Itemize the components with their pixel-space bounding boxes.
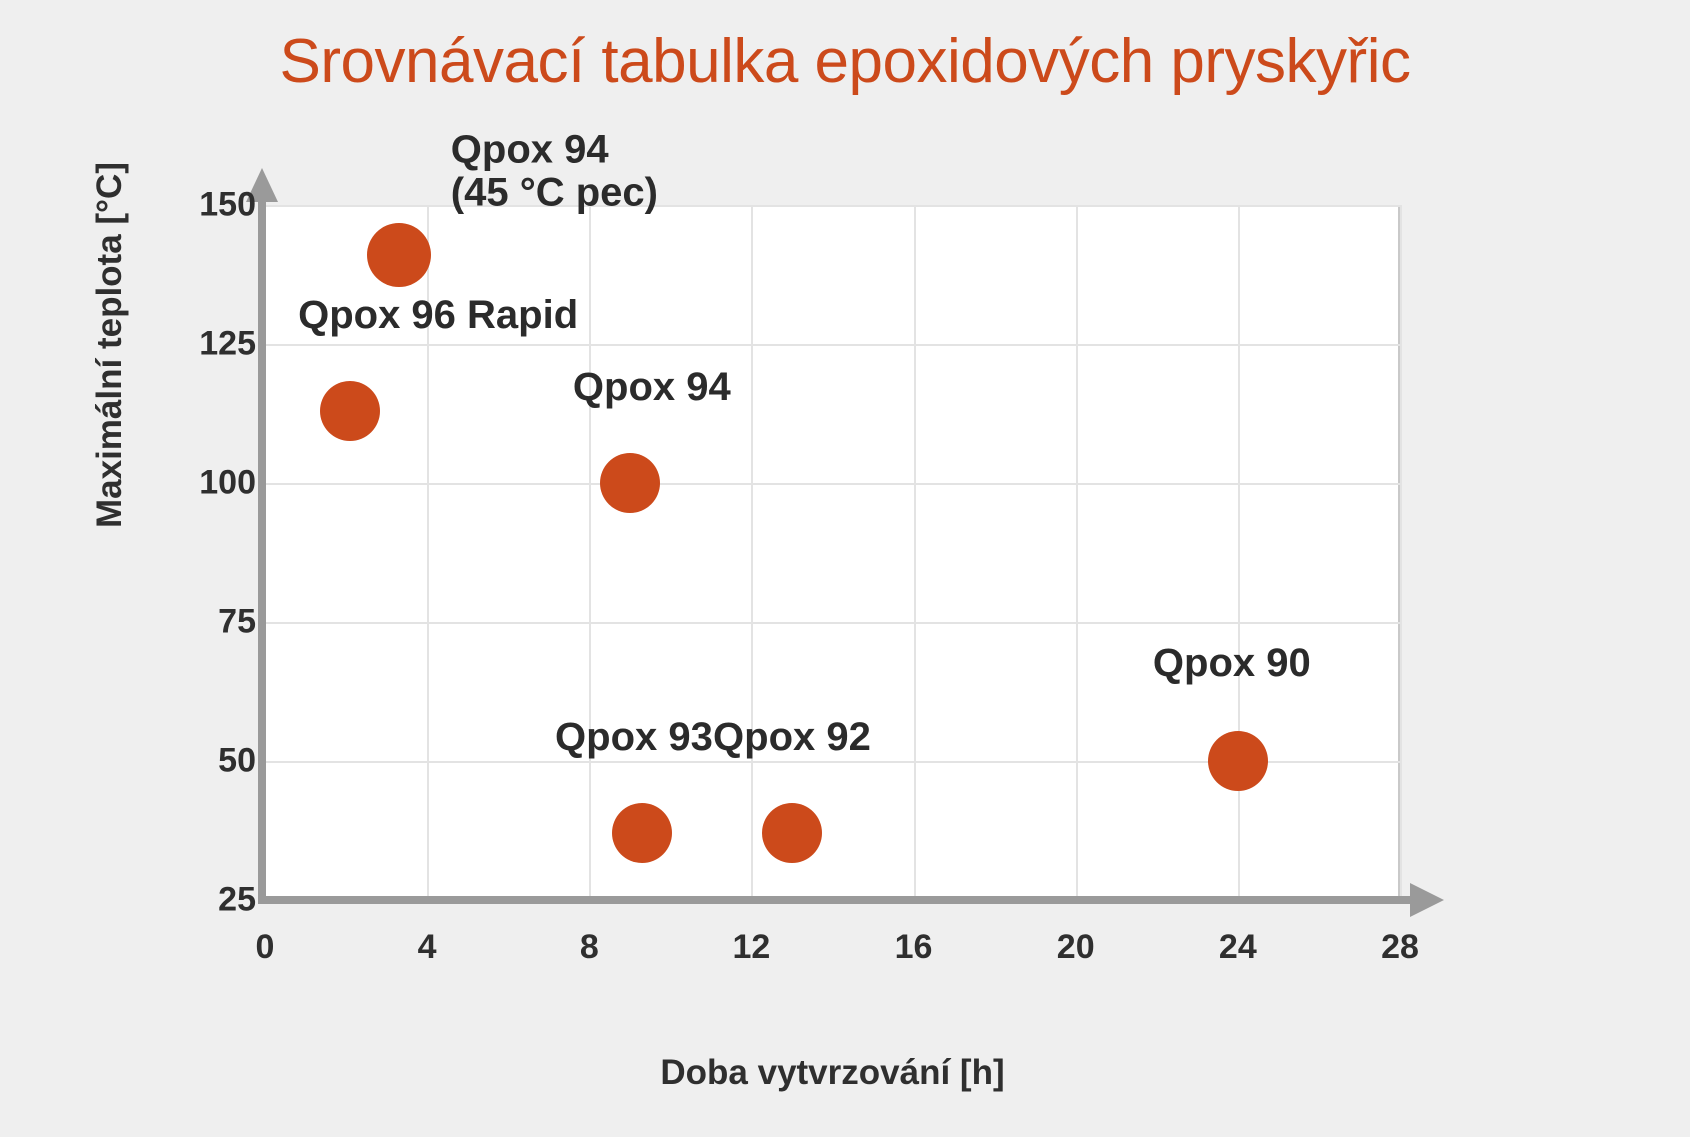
data-point-label: Qpox 90 [1153, 642, 1311, 685]
y-tick-label: 125 [136, 325, 256, 364]
y-tick-label: 100 [136, 464, 256, 503]
gridline-horizontal [265, 344, 1400, 346]
y-axis-title: Maximální teplota [°C] [90, 0, 130, 695]
gridline-vertical [914, 205, 916, 900]
data-point-marker[interactable] [1208, 731, 1268, 791]
page-title: Srovnávací tabulka epoxidových pryskyřic [0, 26, 1690, 97]
x-axis-line [258, 896, 1413, 904]
data-point-label: Qpox 92 [713, 716, 871, 759]
data-point-marker[interactable] [762, 803, 822, 863]
gridline-vertical [1076, 205, 1078, 900]
x-tick-label: 12 [691, 928, 811, 967]
data-point-label: Qpox 94 [573, 366, 731, 409]
gridline-horizontal [265, 483, 1400, 485]
data-point-label: Qpox 96 Rapid [298, 294, 578, 337]
plot-area: Qpox 94 (45 °C pec)Qpox 96 RapidQpox 94Q… [265, 205, 1400, 900]
y-tick-label: 75 [136, 603, 256, 642]
gridline-vertical [1238, 205, 1240, 900]
data-point-marker[interactable] [600, 453, 660, 513]
gridline-horizontal [265, 205, 1400, 207]
x-axis-title: Doba vytvrzování [h] [265, 1053, 1400, 1093]
data-point-label: Qpox 93 [555, 716, 713, 759]
gridline-horizontal [265, 622, 1400, 624]
x-tick-label: 20 [1016, 928, 1136, 967]
x-tick-label: 0 [205, 928, 325, 967]
x-tick-label: 16 [854, 928, 974, 967]
x-tick-label: 28 [1340, 928, 1460, 967]
data-point-label: Qpox 94 (45 °C pec) [451, 129, 658, 215]
y-tick-label: 25 [136, 881, 256, 920]
y-axis-line [258, 198, 266, 904]
data-point-marker[interactable] [612, 803, 672, 863]
gridline-vertical [589, 205, 591, 900]
data-point-marker[interactable] [320, 381, 380, 441]
gridline-vertical [751, 205, 753, 900]
y-tick-label: 50 [136, 742, 256, 781]
chart-figure: Srovnávací tabulka epoxidových pryskyřic… [0, 0, 1690, 1137]
gridline-vertical [1400, 205, 1402, 900]
x-tick-label: 8 [529, 928, 649, 967]
x-axis-arrow-icon [1410, 883, 1444, 917]
x-tick-label: 4 [367, 928, 487, 967]
data-point-marker[interactable] [367, 223, 431, 287]
x-tick-label: 24 [1178, 928, 1298, 967]
y-tick-label: 150 [136, 186, 256, 225]
